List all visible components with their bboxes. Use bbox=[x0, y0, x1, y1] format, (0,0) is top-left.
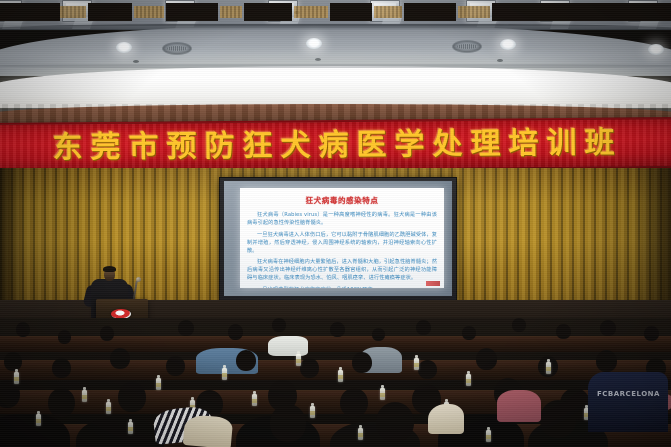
wall-dark-segment bbox=[404, 3, 456, 21]
wall-light-panel bbox=[134, 6, 164, 18]
audience-head bbox=[476, 348, 497, 370]
ceiling-downlight bbox=[116, 42, 132, 53]
water-bottle bbox=[128, 422, 133, 434]
audience-head bbox=[4, 352, 22, 371]
water-bottle bbox=[82, 390, 87, 402]
audience-head bbox=[270, 404, 306, 442]
water-bottle bbox=[252, 394, 257, 406]
event-banner: 东莞市预防狂犬病医学处理培训班 bbox=[0, 117, 671, 174]
audience-head bbox=[512, 318, 526, 332]
water-bottle bbox=[466, 374, 471, 386]
ceiling-sensor-icon bbox=[133, 60, 139, 63]
ceiling-sensor-icon bbox=[315, 58, 321, 61]
wall-light-panel bbox=[60, 6, 86, 18]
audience-head bbox=[100, 326, 114, 341]
audience-head bbox=[600, 320, 616, 336]
audience-head bbox=[16, 322, 30, 337]
water-bottle bbox=[380, 388, 385, 400]
audience-garment-cream bbox=[428, 404, 464, 434]
audience-head bbox=[236, 350, 256, 371]
wall-light-panel bbox=[294, 6, 328, 18]
wall-dark-segment bbox=[244, 3, 292, 21]
audience-garment-cream-scarf bbox=[183, 414, 234, 447]
audience-head bbox=[644, 326, 659, 341]
slide-paragraph: 一旦出现典型的狂犬病临床症状，几乎100%死亡。 bbox=[247, 286, 437, 288]
slide-title: 狂犬病毒的感染特点 bbox=[247, 195, 437, 206]
water-bottle bbox=[486, 430, 491, 442]
water-bottle bbox=[546, 362, 551, 374]
audience-head bbox=[596, 350, 617, 372]
audience-head bbox=[110, 348, 130, 369]
water-bottle bbox=[310, 406, 315, 418]
lecture-hall-photo: 东莞市预防狂犬病医学处理培训班 狂犬病毒的感染特点 狂犬病毒（Rabies vi… bbox=[0, 0, 671, 447]
banner-title-text: 东莞市预防狂犬病医学处理培训班 bbox=[0, 127, 671, 163]
audience-head bbox=[418, 360, 437, 379]
audience-head bbox=[372, 328, 385, 341]
wall-dark-segment bbox=[0, 3, 60, 21]
audience-garment-pink-coat bbox=[497, 390, 541, 422]
audience-head bbox=[462, 326, 476, 340]
water-bottle bbox=[36, 414, 41, 426]
audience-head bbox=[300, 358, 319, 378]
water-bottle bbox=[358, 428, 363, 440]
water-bottle bbox=[106, 402, 111, 414]
ceiling-vent-grille-icon bbox=[162, 42, 192, 55]
jersey-text: FCBARCELONA bbox=[597, 390, 660, 398]
slide-logo-icon bbox=[426, 281, 440, 286]
water-bottle bbox=[414, 358, 419, 370]
audience-head bbox=[352, 352, 372, 373]
presentation-slide: 狂犬病毒的感染特点 狂犬病毒（Rabies virus）是一种高度嗜神经性的病毒… bbox=[240, 188, 444, 288]
screen-surface: 狂犬病毒的感染特点 狂犬病毒（Rabies virus）是一种高度嗜神经性的病毒… bbox=[224, 181, 452, 296]
audience-head bbox=[118, 382, 146, 412]
slide-paragraph: 狂犬病毒（Rabies virus）是一种高度嗜神经性的病毒。狂犬病是一种由该病… bbox=[247, 211, 437, 227]
slide-paragraph: 一旦狂犬病毒进入人体伤口后，它可以黏附于骨骼肌细胞的乙酰胆碱受体，复制并增殖，然… bbox=[247, 231, 437, 255]
audience-head bbox=[340, 388, 368, 417]
ceiling-downlight bbox=[306, 38, 322, 49]
audience-head bbox=[376, 402, 414, 442]
audience-head bbox=[330, 322, 345, 337]
water-bottle bbox=[296, 354, 301, 366]
audience-head bbox=[556, 324, 571, 339]
microphone-icon bbox=[136, 277, 141, 282]
wall-dark-segment bbox=[492, 3, 671, 21]
audience-head bbox=[48, 388, 75, 417]
audience-area bbox=[0, 318, 671, 447]
water-bottle bbox=[222, 368, 227, 380]
wall-light-panel bbox=[220, 6, 242, 18]
audience-head bbox=[178, 320, 194, 336]
wall-dark-segment bbox=[166, 3, 218, 21]
audience-garment-fcbarcelona-jacket: FCBARCELONA bbox=[588, 372, 668, 432]
ceiling-downlight bbox=[648, 44, 664, 55]
slide-paragraph: 狂犬病毒在神经细胞内大量繁殖后，进入脊髓和大脑，引起急性脑脊髓炎；然后病毒又沿传… bbox=[247, 258, 437, 282]
ceiling-sensor-icon bbox=[497, 59, 503, 62]
wall-dark-segment bbox=[88, 3, 132, 21]
audience-head bbox=[166, 356, 185, 376]
ceiling-vent-grille-icon bbox=[452, 40, 482, 53]
projection-screen: 狂犬病毒的感染特点 狂犬病毒（Rabies virus）是一种高度嗜神经性的病毒… bbox=[219, 177, 457, 302]
speaker-hair bbox=[103, 266, 116, 272]
audience-silhouette bbox=[76, 418, 164, 447]
wall-light-panel bbox=[458, 6, 490, 18]
audience-head bbox=[58, 330, 71, 344]
seat-row bbox=[0, 360, 671, 380]
wall-light-panel bbox=[374, 6, 402, 18]
ceiling-downlight bbox=[500, 39, 516, 50]
audience-silhouette bbox=[0, 414, 70, 447]
audience-head bbox=[540, 400, 576, 438]
ceiling-lightbox-strip bbox=[0, 66, 671, 108]
audience-head bbox=[272, 318, 286, 332]
audience-garment bbox=[268, 336, 308, 356]
water-bottle bbox=[338, 370, 343, 382]
audience-head bbox=[228, 324, 243, 340]
audience-head bbox=[52, 358, 71, 378]
water-bottle bbox=[14, 372, 19, 384]
water-bottle bbox=[156, 378, 161, 390]
audience-head bbox=[416, 320, 431, 335]
wall-dark-segment bbox=[330, 3, 372, 21]
